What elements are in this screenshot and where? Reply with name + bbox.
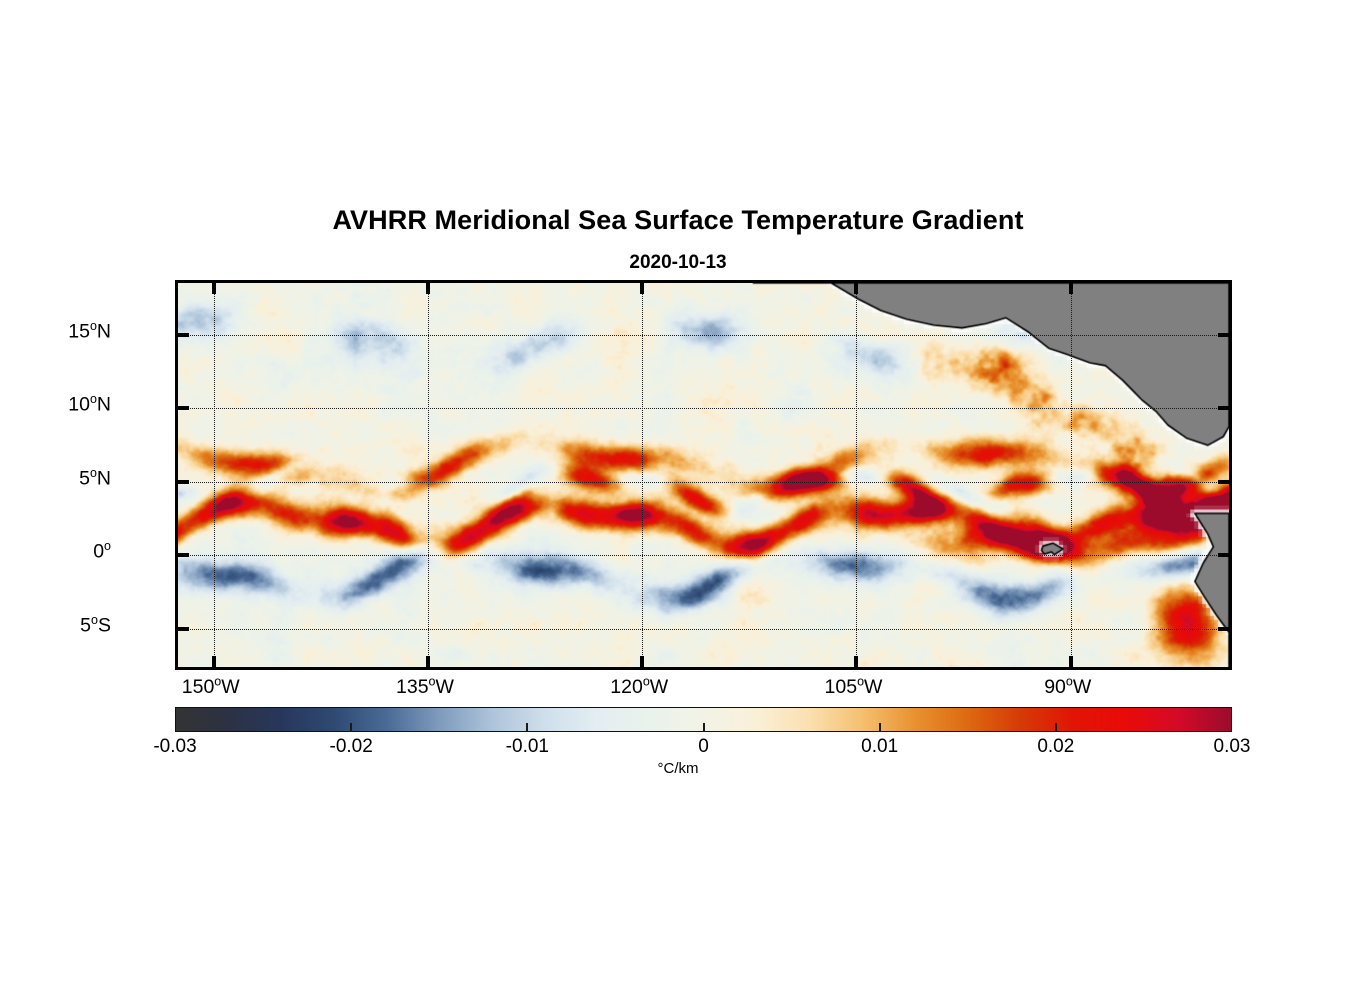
x-axis-label-150W: 150oW <box>182 676 240 699</box>
tick-lat-10 <box>178 406 189 410</box>
colorbar-label--0.01: -0.01 <box>506 736 549 758</box>
x-axis-label-120W: 120oW <box>610 676 668 699</box>
colorbar-label-0: 0 <box>698 736 709 758</box>
tick-lat-5 <box>1218 480 1229 484</box>
x-axis-label-90W: 90oW <box>1044 676 1091 699</box>
tick-lat-0 <box>178 553 189 557</box>
colorbar-tick-0.01 <box>879 723 881 732</box>
colorbar-tick-0 <box>703 723 705 732</box>
tick-lon-105 <box>854 283 858 294</box>
tick-lon-150 <box>212 283 216 294</box>
tick-lat--5 <box>178 627 189 631</box>
page-title: AVHRR Meridional Sea Surface Temperature… <box>0 205 1356 236</box>
gridline-lon-105 <box>856 283 857 667</box>
tick-lon-135 <box>426 283 430 294</box>
colorbar-label-0.02: 0.02 <box>1037 736 1074 758</box>
tick-lon-90 <box>1069 656 1073 667</box>
tick-lon-150 <box>212 656 216 667</box>
x-axis-label-135W: 135oW <box>396 676 454 699</box>
tick-lon-105 <box>854 656 858 667</box>
gridline-lon-120 <box>642 283 643 667</box>
tick-lat-15 <box>178 333 189 337</box>
y-axis-label-5S: 5oS <box>80 614 111 637</box>
figure-date-subtitle: 2020-10-13 <box>0 252 1356 274</box>
tick-lon-120 <box>640 283 644 294</box>
colorbar-tick--0.02 <box>350 723 352 732</box>
gridline-lon-150 <box>214 283 215 667</box>
colorbar-tick-0.02 <box>1055 723 1057 732</box>
colorbar-label-0.01: 0.01 <box>861 736 898 758</box>
gridline-lon-135 <box>428 283 429 667</box>
tick-lat--5 <box>1218 627 1229 631</box>
tick-lat-0 <box>1218 553 1229 557</box>
colorbar-unit-label: °C/km <box>0 760 1356 777</box>
y-axis-label-0: 0o <box>93 541 111 564</box>
colorbar-label--0.02: -0.02 <box>330 736 373 758</box>
colorbar-label--0.03: -0.03 <box>153 736 196 758</box>
x-axis-label-105W: 105oW <box>825 676 883 699</box>
y-axis-label-5N: 5oN <box>79 467 111 490</box>
gridline-lon-90 <box>1071 283 1072 667</box>
y-axis-label-15N: 15oN <box>68 320 111 343</box>
tick-lat-5 <box>178 480 189 484</box>
tick-lat-15 <box>1218 333 1229 337</box>
tick-lon-120 <box>640 656 644 667</box>
tick-lon-135 <box>426 656 430 667</box>
tick-lat-10 <box>1218 406 1229 410</box>
tick-lon-90 <box>1069 283 1073 294</box>
map-plot-area[interactable] <box>175 280 1232 670</box>
y-axis-label-10N: 10oN <box>68 394 111 417</box>
colorbar[interactable] <box>175 707 1232 732</box>
colorbar-tick--0.01 <box>526 723 528 732</box>
colorbar-label-0.03: 0.03 <box>1214 736 1251 758</box>
